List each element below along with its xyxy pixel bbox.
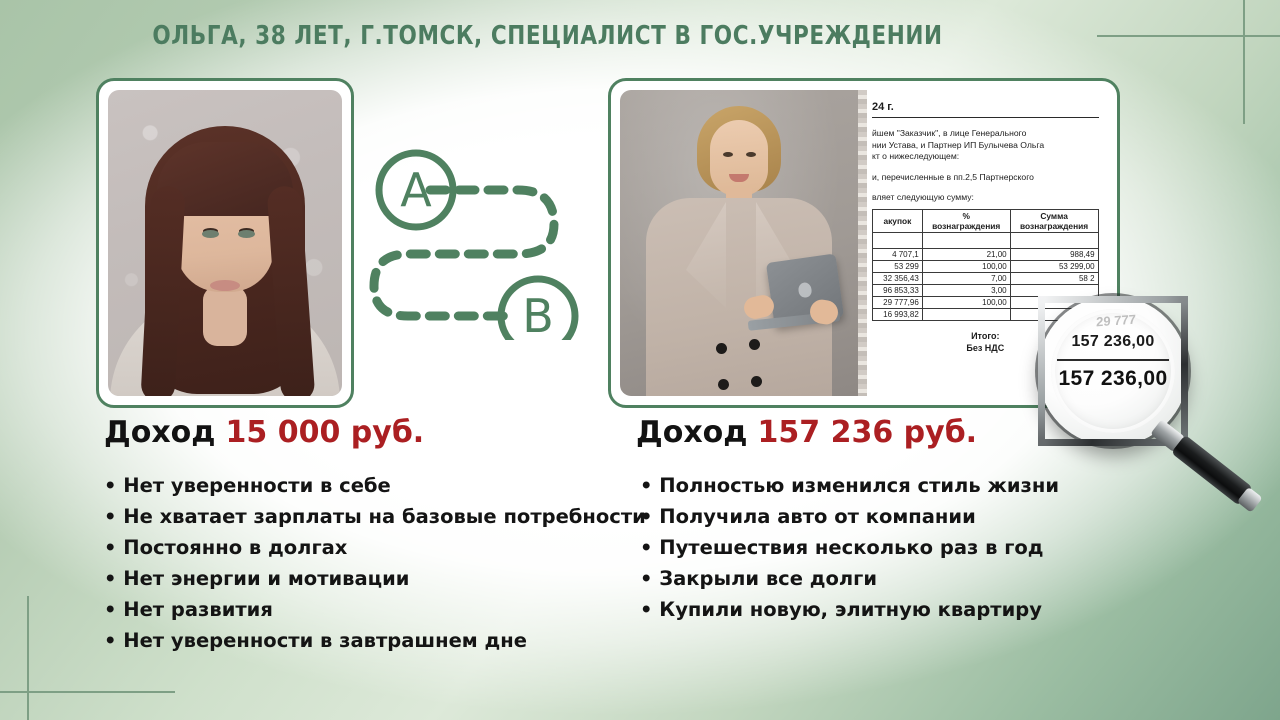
col-header-sum-top: Сумма [1014,211,1095,221]
income-amount-before: 15 000 руб. [226,415,425,450]
contract-document: 24 г. йшем "Заказчик", в лице Генерально… [858,90,1108,396]
photo-frame-after: 24 г. йшем "Заказчик", в лице Генерально… [608,78,1120,408]
table-row: 16 993,82 [873,308,1099,320]
list-item: Полностью изменился стиль жизни [640,470,1059,501]
table-spacer-row [873,232,1099,248]
list-item: Закрыли все долги [640,563,1059,594]
cell-percent: 100,00 [922,296,1010,308]
list-item: Купили новую, элитную квартиру [640,594,1059,625]
photo-before [108,90,342,396]
cell-sum [1010,296,1098,308]
cell-purchases: 29 777,96 [873,296,923,308]
list-item: Нет развития [104,594,646,625]
list-item: Нет уверенности в себе [104,470,646,501]
totals-vat: Без НДС [872,342,1099,354]
list-item: Нет энергии и мотивации [104,563,646,594]
col-header-purchases: акупок [873,209,923,232]
table-row: 4 707,1 21,00 988,49 [873,248,1099,260]
cell-percent: 3,00 [922,284,1010,296]
cell-purchases: 4 707,1 [873,248,923,260]
photo-frame-before [96,78,354,408]
table-row: 32 356,43 7,00 58 2 [873,272,1099,284]
income-heading-before: Доход15 000 руб. [104,415,424,450]
list-item: Постоянно в долгах [104,532,646,563]
slide-title: ОЛЬГА, 38 ЛЕТ, Г.ТОМСК, СПЕЦИАЛИСТ В ГОС… [33,21,1062,51]
a-to-b-path-graphic: A B [368,148,584,340]
income-heading-after: Доход157 236 руб. [636,415,977,450]
contract-totals: Итого: Без НДС [872,330,1099,354]
contract-paragraph: кт о нижеследующем: [872,151,1108,163]
contract-divider [872,117,1099,118]
bullet-list-after: Полностью изменился стиль жизни Получила… [640,470,1059,625]
decor-line-title-right [1097,35,1280,37]
decor-line-bottom-left [0,691,175,693]
col-header-sum-bottom: вознаграждения [1014,221,1095,231]
label-a: A [400,163,432,217]
table-row: 29 777,96 100,00 [873,296,1099,308]
cell-sum: 53 299,00 [1010,260,1098,272]
cell-purchases: 32 356,43 [873,272,923,284]
contract-paragraph: йшем "Заказчик", в лице Генерального [872,128,1108,140]
contract-paragraph: вляет следующую сумму: [872,192,1108,204]
list-item: Не хватает зарплаты на базовые потребнос… [104,501,646,532]
income-label-after: Доход [636,415,748,450]
list-item: Нет уверенности в завтрашнем дне [104,625,646,656]
cell-percent: 7,00 [922,272,1010,284]
cell-sum: 988,49 [1010,248,1098,260]
paper-torn-edge [858,90,867,396]
cell-percent [922,308,1010,320]
decor-line-vertical-right [1243,0,1245,124]
decor-line-vertical-left [27,596,29,720]
list-item: Путешествия несколько раз в год [640,532,1059,563]
col-header-percent-bottom: вознаграждения [926,221,1007,231]
cell-purchases: 16 993,82 [873,308,923,320]
col-header-percent-top: % [926,211,1007,221]
income-amount-after: 157 236 руб. [758,415,978,450]
cell-purchases: 96 853,33 [873,284,923,296]
cell-percent: 100,00 [922,260,1010,272]
contract-paragraph: и, перечисленные в пп.2,5 Партнерского [872,172,1108,184]
reward-table: акупок % вознаграждения Сумма вознагражд… [872,209,1099,321]
photo-after [620,90,858,396]
cell-sum [1010,308,1098,320]
col-header-sum: Сумма вознаграждения [1010,209,1098,232]
totals-label: Итого: [872,330,1099,342]
cell-sum: 58 2 [1010,272,1098,284]
col-header-percent: % вознаграждения [922,209,1010,232]
table-header-row: акупок % вознаграждения Сумма вознагражд… [873,209,1099,232]
contract-paragraph: нии Устава, и Партнер ИП Булычева Ольга [872,140,1108,152]
income-label-before: Доход [104,415,216,450]
photo-after-composite: 24 г. йшем "Заказчик", в лице Генерально… [620,90,1108,396]
a-to-b-svg: A B [368,148,584,340]
label-b: B [522,289,554,340]
contract-date: 24 г. [872,90,1108,113]
list-item: Получила авто от компании [640,501,1059,532]
magnifier-handle [1148,417,1264,516]
table-row: 53 299 100,00 53 299,00 [873,260,1099,272]
bullet-list-before: Нет уверенности в себе Не хватает зарпла… [104,470,646,656]
cell-percent: 21,00 [922,248,1010,260]
slide-canvas: ОЛЬГА, 38 ЛЕТ, Г.ТОМСК, СПЕЦИАЛИСТ В ГОС… [0,0,1280,720]
cell-purchases: 53 299 [873,260,923,272]
cell-sum [1010,284,1098,296]
table-row: 96 853,33 3,00 [873,284,1099,296]
